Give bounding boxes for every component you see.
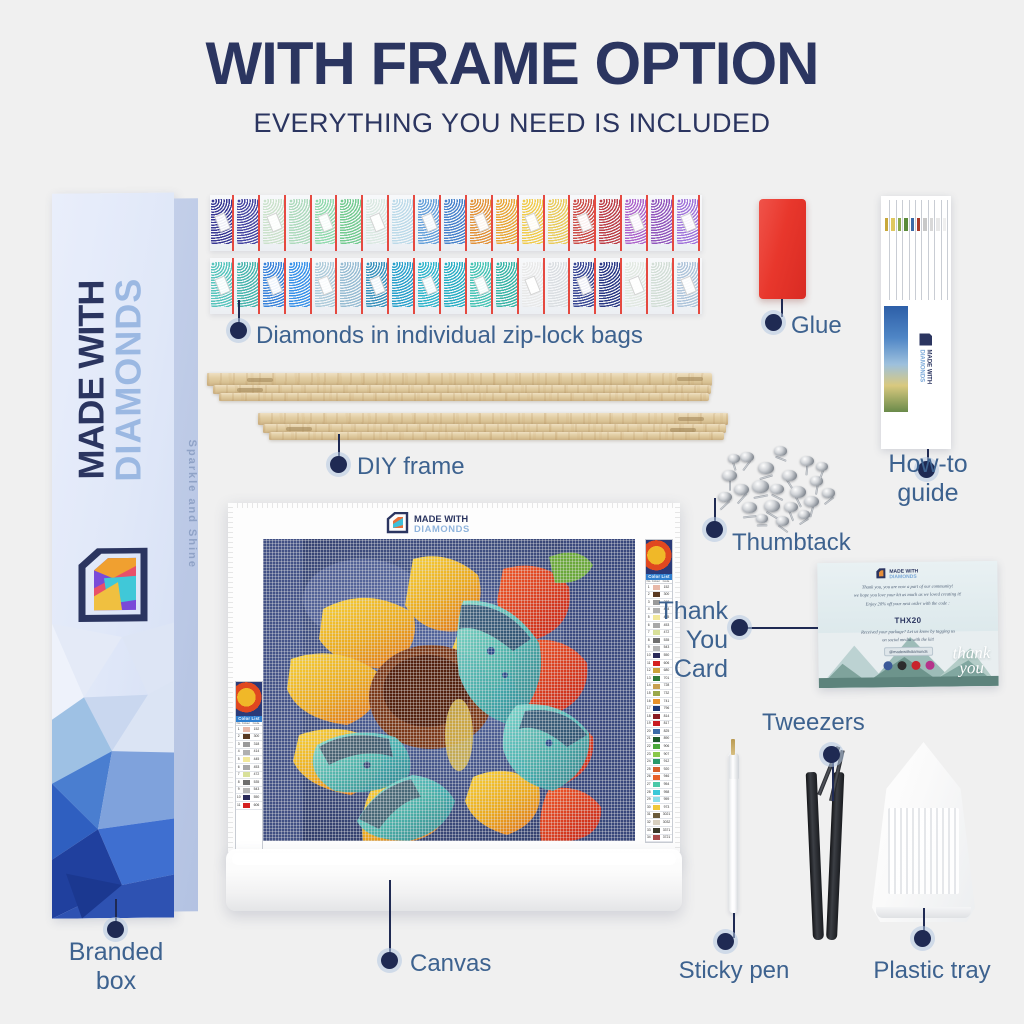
bag-zip-seal [568, 195, 570, 251]
bag-zip-seal [361, 258, 363, 314]
pinterest-icon [911, 661, 920, 670]
artwork-diamond-grid-overlay [263, 539, 635, 841]
tiktok-icon [897, 661, 906, 670]
diamond-bags-label: Diamonds in individual zip-lock bags [256, 322, 643, 350]
thumbtack-head [774, 446, 787, 456]
diamond-bag [314, 258, 340, 314]
thank-you-card-leader-line [744, 627, 818, 629]
sticky-pen-leader-line [733, 913, 735, 938]
bag-zip-seal [594, 195, 596, 251]
branded-box: MADE WITH DIAMONDS [52, 192, 198, 919]
svg-text:DIAMONDS: DIAMONDS [414, 523, 470, 534]
tweezers-leader-line [832, 761, 834, 801]
bag-zip-seal [439, 195, 441, 251]
diamond-bag [676, 195, 702, 251]
diamond-bag [391, 258, 417, 314]
thumbtack-dot [706, 521, 723, 538]
diamond-bag [521, 195, 547, 251]
diamond-bag [339, 195, 365, 251]
brand-name-line2: DIAMONDS [110, 229, 147, 529]
diy-frame-dot [330, 456, 347, 473]
thumbtack-pile [712, 440, 842, 525]
branded-box-side: Sparkle and Shine [174, 198, 198, 911]
bag-zip-seal [672, 195, 674, 251]
card-social-handle: @madewithdiamonds [884, 647, 933, 657]
bag-zip-seal [361, 195, 363, 251]
bag-zip-seal [413, 195, 415, 251]
diamond-bag [314, 195, 340, 251]
color-list-row: 16741 [646, 698, 672, 706]
color-list-row: 27954 [646, 781, 672, 789]
bag-zip-seal [594, 258, 596, 314]
thumbtack-head [770, 484, 784, 494]
diamond-beads [548, 199, 569, 244]
diamond-bag [417, 195, 443, 251]
thumbtack-head [764, 500, 780, 512]
card-body-text: Thank you, you are now a part of our com… [827, 582, 987, 609]
diamond-bag [262, 258, 288, 314]
color-list-row: 26946 [646, 774, 672, 782]
thumbtack-label: Thumbtack [732, 529, 851, 557]
diamond-bag [417, 258, 443, 314]
diamond-beads [651, 262, 672, 307]
bag-zip-seal [413, 258, 415, 314]
glue-label: Glue [791, 312, 842, 340]
color-list-row: 25920 [646, 766, 672, 774]
svg-text:DIAMONDS: DIAMONDS [919, 350, 925, 383]
bag-zip-seal [387, 258, 389, 314]
thumbtack-head [734, 484, 749, 495]
diamond-beads [289, 199, 310, 244]
brand-tagline: Sparkle and Shine [186, 424, 198, 584]
diamond-bag [443, 258, 469, 314]
branded-box-dot [107, 921, 124, 938]
color-list-row: 7472 [236, 772, 262, 780]
how-to-guide-label: How-to guide [849, 450, 1007, 508]
color-list-row: 19817 [646, 721, 672, 729]
diamond-bag [443, 195, 469, 251]
diamond-beads [340, 199, 361, 244]
canvas-artwork [263, 539, 635, 841]
bag-zip-seal [646, 258, 648, 314]
diamond-bag [288, 258, 314, 314]
diamond-bag [650, 195, 676, 251]
diamond-beads [340, 262, 361, 307]
thumbtack-head [740, 452, 754, 462]
color-list-row: 1152 [646, 584, 672, 592]
sticky-pen-label: Sticky pen [660, 957, 808, 985]
guide-color-table [884, 200, 948, 300]
bag-zip-seal [232, 258, 234, 314]
bag-zip-seal [387, 195, 389, 251]
branded-box-front: MADE WITH DIAMONDS [52, 192, 174, 918]
color-list-row: 10550 [236, 794, 262, 802]
diamond-bag [236, 195, 262, 251]
color-list-row: 4414 [236, 749, 262, 757]
thumbtack-head [756, 514, 768, 523]
diamond-beads [496, 199, 517, 244]
brand-name-line1: MADE WITH [73, 230, 110, 530]
color-list-row: 28958 [646, 789, 672, 797]
canvas-leader-line [389, 880, 391, 958]
guide-logo-icon: MADE WITH DIAMONDS [917, 328, 932, 390]
color-list-row: 20825 [646, 728, 672, 736]
diamond-bag [547, 258, 573, 314]
diamond-beads [496, 262, 517, 307]
color-list-thumbnail [646, 540, 672, 574]
thank-you-card-label: Thank You Card [612, 597, 728, 684]
bag-zip-seal [491, 195, 493, 251]
facebook-icon [883, 661, 892, 670]
bag-zip-seal [646, 195, 648, 251]
thumbtack-pin [753, 494, 768, 499]
color-list-row: 23907 [646, 751, 672, 759]
color-list-row: 11606 [236, 802, 262, 810]
thumbtack-pin [743, 515, 757, 518]
page-title: WITH FRAME OPTION [0, 34, 1024, 94]
plastic-tray-dot [914, 930, 931, 947]
bag-zip-seal [672, 258, 674, 314]
color-list-row: 15732 [646, 690, 672, 698]
thumbtack-head [782, 470, 797, 481]
bag-zip-seal [335, 258, 337, 314]
bag-zip-seal [284, 195, 286, 251]
diamond-beads [599, 262, 620, 307]
bag-zip-seal [465, 195, 467, 251]
branded-box-pattern [52, 622, 174, 918]
branded-box-logo-text: MADE WITH DIAMONDS [73, 229, 146, 530]
diamond-bag [210, 195, 236, 251]
thumbtack-head [728, 454, 740, 463]
color-list-row: 1152 [236, 726, 262, 734]
card-thank-you-script: thank you [952, 645, 990, 677]
diamond-beads [651, 199, 672, 244]
page-subtitle: EVERYTHING YOU NEED IS INCLUDED [0, 110, 1024, 137]
bag-zip-seal [568, 258, 570, 314]
diamond-bag [598, 195, 624, 251]
color-list-row: 9543 [236, 787, 262, 795]
thumbtack-head [800, 456, 814, 466]
diamond-bag [339, 258, 365, 314]
diamond-bag [262, 195, 288, 251]
diamond-beads [237, 262, 258, 307]
canvas-color-list-left: Color ListNo.ColourCode11522300331844145… [235, 681, 263, 853]
glue-leader-line [781, 299, 783, 317]
color-list-row: 22906 [646, 743, 672, 751]
diamond-logo-icon [78, 548, 148, 623]
diamond-bag [288, 195, 314, 251]
bag-zip-seal [258, 258, 260, 314]
thank-you-card: MADE WITH DIAMONDS Thank you, you are no… [817, 561, 999, 688]
bag-zip-seal [232, 195, 234, 251]
bag-zip-seal [335, 195, 337, 251]
color-list-row: 343721 [646, 835, 672, 843]
diamond-bags-row-top [210, 195, 702, 251]
bag-zip-seal [258, 195, 260, 251]
thumbtack-head [804, 496, 819, 507]
glue-bottle [759, 199, 806, 299]
thumbtack-pin [775, 455, 787, 461]
branded-box-label: Branded box [30, 938, 202, 996]
diamond-bag [624, 195, 650, 251]
diamond-bag [521, 258, 547, 314]
how-to-guide-booklet: MADE WITH DIAMONDS [881, 196, 951, 449]
bag-zip-seal [620, 258, 622, 314]
diamond-bags-dot [230, 322, 247, 339]
color-list-row: 24912 [646, 759, 672, 767]
diamond-bag [469, 258, 495, 314]
diamond-bag [495, 195, 521, 251]
thumbtack-head [776, 516, 789, 526]
sticky-pen [726, 735, 740, 920]
bag-zip-seal [517, 195, 519, 251]
diamond-bag [572, 195, 598, 251]
color-list-row: 17796 [646, 706, 672, 714]
bag-zip-seal [284, 258, 286, 314]
diamond-bag [547, 195, 573, 251]
color-list-row: 3318 [236, 741, 262, 749]
diamond-bag [572, 258, 598, 314]
color-list-row: 8535 [236, 779, 262, 787]
diy-frame-bars-top [207, 373, 712, 403]
tweezers-dot [823, 746, 840, 763]
color-list-row: 2300 [236, 734, 262, 742]
bag-zip-seal [620, 195, 622, 251]
thumbtack-head [790, 486, 806, 498]
diamond-beads [599, 199, 620, 244]
diamond-bag [495, 258, 521, 314]
thumbtack-head [742, 502, 757, 513]
color-list-row: 18814 [646, 713, 672, 721]
thumbtack-head [784, 502, 798, 512]
diamond-bag [676, 258, 702, 314]
diamond-beads [392, 262, 413, 307]
thumbtack-head [798, 510, 810, 519]
color-list-thumbnail [236, 682, 262, 716]
canvas-rolled-edge [226, 849, 682, 911]
canvas-label: Canvas [410, 950, 491, 978]
bag-zip-seal [465, 258, 467, 314]
diamond-beads [444, 199, 465, 244]
thank-you-card-dot [731, 619, 748, 636]
script-line-2: you [953, 660, 991, 676]
thumbtack-head [822, 488, 835, 498]
color-list-row: 21890 [646, 736, 672, 744]
plastic-tray [872, 742, 975, 922]
svg-text:DIAMONDS: DIAMONDS [889, 574, 917, 580]
bag-zip-seal [698, 258, 700, 314]
thumbtack-head [752, 480, 769, 493]
color-list-row: 29959 [646, 797, 672, 805]
diamond-bag [469, 195, 495, 251]
diamond-bag [365, 195, 391, 251]
thumbtack-pin [757, 524, 768, 526]
infographic-root: WITH FRAME OPTION EVERYTHING YOU NEED IS… [0, 0, 1024, 1024]
glue-dot [765, 314, 782, 331]
bag-zip-seal [439, 258, 441, 314]
diy-frame-label: DIY frame [357, 453, 465, 481]
canvas-logo-icon: MADE WITH DIAMONDS [386, 512, 508, 534]
color-list-row: 5445 [236, 756, 262, 764]
plastic-tray-label: Plastic tray [857, 957, 1007, 985]
color-list-row: 30973 [646, 804, 672, 812]
card-logo-icon: MADE WITH DIAMONDS [875, 567, 939, 580]
bag-zip-seal [310, 258, 312, 314]
thumbtack-head [722, 470, 737, 481]
thumbtack-head [758, 462, 774, 474]
diamond-bags-row-bottom [210, 258, 702, 314]
guide-table-column [942, 200, 948, 300]
diamond-bag [650, 258, 676, 314]
guide-cover-photo [884, 306, 908, 412]
diamond-bag [598, 258, 624, 314]
instagram-icon [925, 661, 934, 670]
color-list-row: 323032 [646, 819, 672, 827]
bag-zip-seal [517, 258, 519, 314]
diamond-beads [392, 199, 413, 244]
diamond-bag [391, 195, 417, 251]
diamond-bag [624, 258, 650, 314]
canvas-color-list-right: Color ListNo.ColourCode11522300331844145… [645, 539, 673, 843]
thumbtack-head [816, 462, 828, 471]
tweezers [805, 745, 853, 940]
bag-zip-seal [698, 195, 700, 251]
bag-zip-seal [543, 258, 545, 314]
bag-zip-seal [491, 258, 493, 314]
diamond-bag [210, 258, 236, 314]
diamond-beads [289, 262, 310, 307]
diy-frame-bars-bottom [258, 413, 728, 443]
diamond-bag [365, 258, 391, 314]
sticky-pen-dot [717, 933, 734, 950]
color-list-row: 313021 [646, 812, 672, 820]
color-list-row: 6453 [236, 764, 262, 772]
diamond-beads [237, 199, 258, 244]
tweezers-label: Tweezers [762, 709, 865, 737]
canvas-dot [381, 952, 398, 969]
color-list-row: 333371 [646, 827, 672, 835]
diamond-beads [548, 262, 569, 307]
bag-zip-seal [543, 195, 545, 251]
diamond-beads [444, 262, 465, 307]
svg-text:MADE WITH: MADE WITH [926, 350, 932, 385]
bag-zip-seal [310, 195, 312, 251]
